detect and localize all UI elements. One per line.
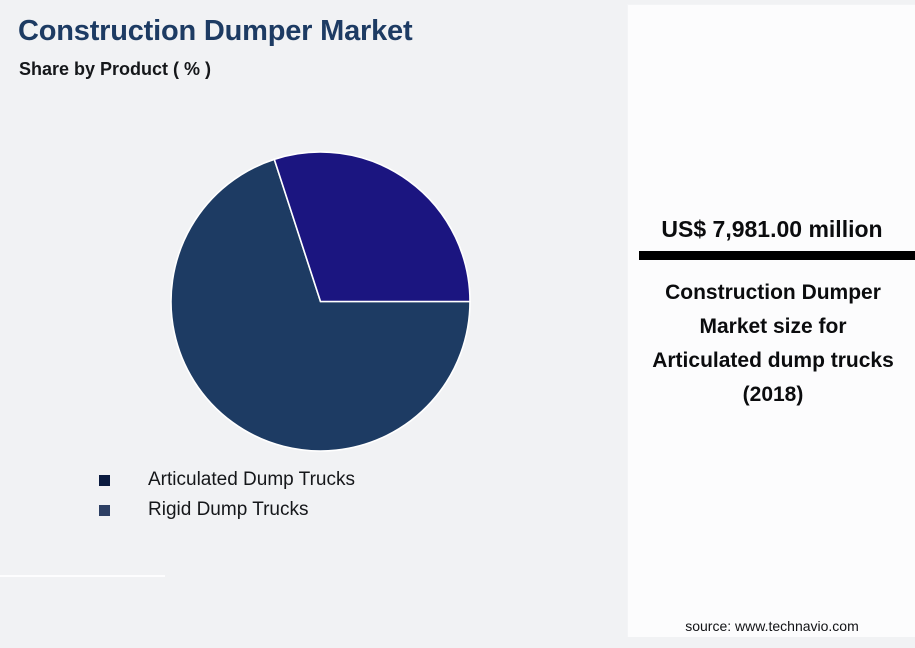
- legend-label: Articulated Dump Trucks: [148, 469, 355, 491]
- chart-subtitle: Share by Product ( % ): [19, 59, 211, 80]
- pie-chart: [170, 151, 471, 452]
- infographic-canvas: Construction Dumper Market Share by Prod…: [0, 0, 915, 648]
- chart-legend: Articulated Dump Trucks Rigid Dump Truck…: [99, 465, 355, 525]
- source-note: source: www.technavio.com: [628, 618, 915, 634]
- footer-divider: [0, 575, 165, 577]
- chart-panel: Construction Dumper Market Share by Prod…: [0, 0, 627, 648]
- legend-item-articulated-dump-trucks[interactable]: Articulated Dump Trucks: [99, 465, 355, 495]
- page-title: Construction Dumper Market: [18, 15, 412, 48]
- legend-label: Rigid Dump Trucks: [148, 499, 309, 521]
- kpi-divider: [639, 251, 915, 260]
- kpi-panel: US$ 7,981.00 million Construction Dumper…: [627, 4, 915, 637]
- pie-chart-svg: [170, 151, 471, 452]
- legend-item-rigid-dump-trucks[interactable]: Rigid Dump Trucks: [99, 495, 355, 525]
- legend-swatch-icon: [99, 475, 110, 486]
- kpi-caption: Construction Dumper Market size for Arti…: [652, 276, 894, 412]
- legend-swatch-icon: [99, 505, 110, 516]
- kpi-value: US$ 7,981.00 million: [628, 216, 915, 243]
